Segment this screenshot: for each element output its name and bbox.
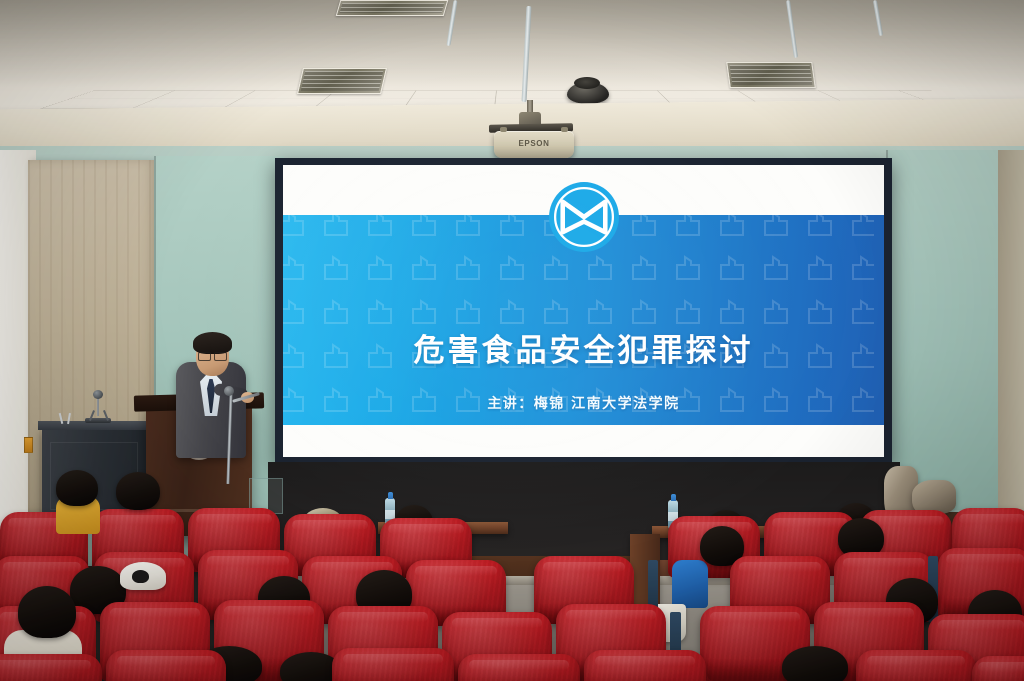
lecture-hall-photo: EPSON 危害食品安全犯罪探讨 主讲：梅锦 江南大学法学院 bbox=[0, 0, 1024, 681]
presenter-hair bbox=[193, 332, 232, 354]
baseball-cap bbox=[120, 562, 166, 590]
projector-brand-label: EPSON bbox=[494, 139, 574, 148]
projection-screen-frame: 危害食品安全犯罪探讨 主讲：梅锦 江南大学法学院 bbox=[275, 158, 892, 464]
audience-head bbox=[116, 472, 160, 510]
presenter-torso bbox=[176, 362, 246, 458]
seat[interactable] bbox=[0, 654, 102, 681]
cables bbox=[58, 414, 80, 424]
ceiling-speaker-dome bbox=[567, 82, 609, 104]
epson-projector: EPSON bbox=[494, 131, 574, 158]
decorative-stone bbox=[912, 480, 956, 514]
projection-screen-surface: 危害食品安全犯罪探讨 主讲：梅锦 江南大学法学院 bbox=[283, 165, 884, 457]
desk-microphone-icon bbox=[93, 390, 103, 399]
audience-head bbox=[18, 586, 76, 638]
projector-foot bbox=[561, 127, 568, 132]
wall-switch[interactable] bbox=[24, 437, 33, 453]
audience-torso bbox=[672, 560, 708, 608]
slide-bottom-margin bbox=[283, 425, 884, 457]
desk-microphone-rod bbox=[97, 396, 99, 416]
slide-title: 危害食品安全犯罪探讨 bbox=[283, 325, 884, 370]
seat[interactable] bbox=[106, 650, 226, 681]
audience-head bbox=[782, 646, 848, 681]
right-wall-edge bbox=[998, 150, 1024, 510]
podium-microphone-icon bbox=[224, 386, 234, 396]
glasses-icon bbox=[198, 352, 227, 359]
ceiling-vent-icon bbox=[297, 68, 387, 94]
cap-logo-icon bbox=[132, 570, 149, 583]
butterfly-book-logo-icon bbox=[546, 179, 622, 255]
projector-foot bbox=[500, 127, 507, 132]
seat[interactable] bbox=[856, 650, 976, 681]
seat[interactable] bbox=[584, 650, 706, 681]
slide-subtitle: 主讲：梅锦 江南大学法学院 bbox=[283, 393, 884, 413]
ceiling-vent-icon bbox=[336, 0, 449, 16]
seat[interactable] bbox=[332, 648, 454, 681]
audience-head bbox=[56, 470, 98, 506]
seat[interactable] bbox=[458, 654, 580, 681]
ceiling-vent-icon bbox=[726, 62, 816, 88]
seat[interactable] bbox=[972, 656, 1024, 681]
